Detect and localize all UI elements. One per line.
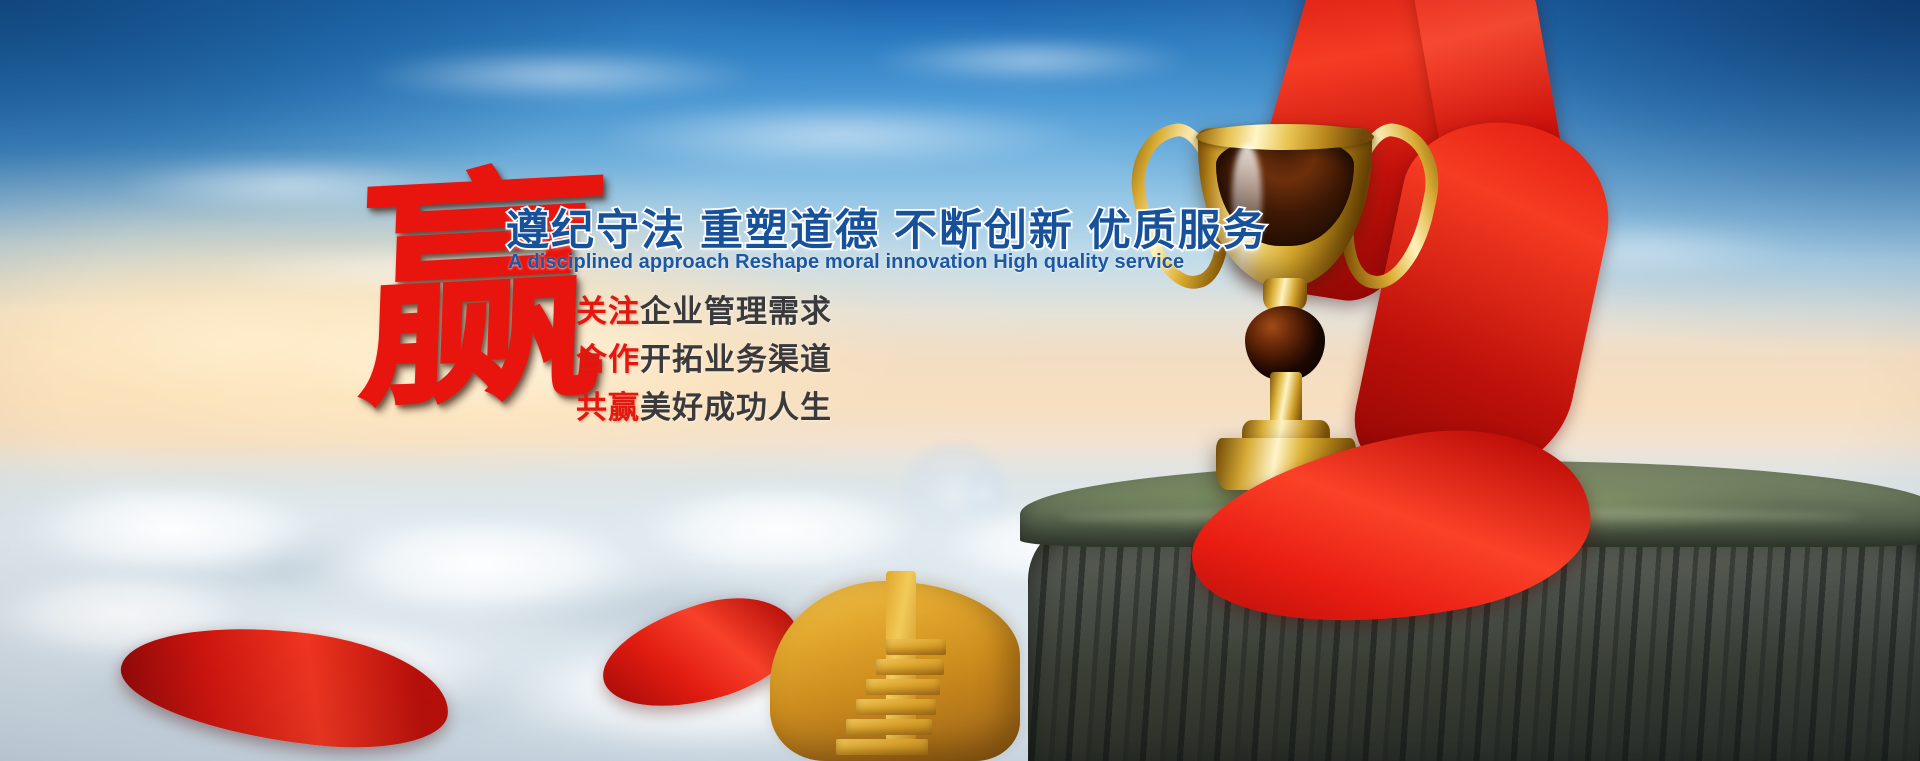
cloud-wisp [820, 30, 1240, 90]
trophy-rim [1196, 124, 1374, 150]
stair-step [866, 679, 940, 695]
trophy-knob [1245, 306, 1325, 380]
stair-step [876, 659, 944, 675]
dollar-sign-bar [886, 571, 916, 741]
stair-step [856, 699, 936, 715]
dollar-sign-staircase [740, 571, 1070, 761]
trophy-highlight [1232, 144, 1262, 252]
stair-step [836, 739, 928, 755]
cloud-wisp [140, 240, 660, 300]
stair-step [886, 639, 946, 655]
stair-step [846, 719, 932, 735]
cloud-wisp [520, 90, 1160, 180]
cloud-wisp [60, 150, 520, 220]
hero-banner: 赢 遵纪守法 重塑道德 不断创新 优质服务 A disciplined appr… [0, 0, 1920, 761]
